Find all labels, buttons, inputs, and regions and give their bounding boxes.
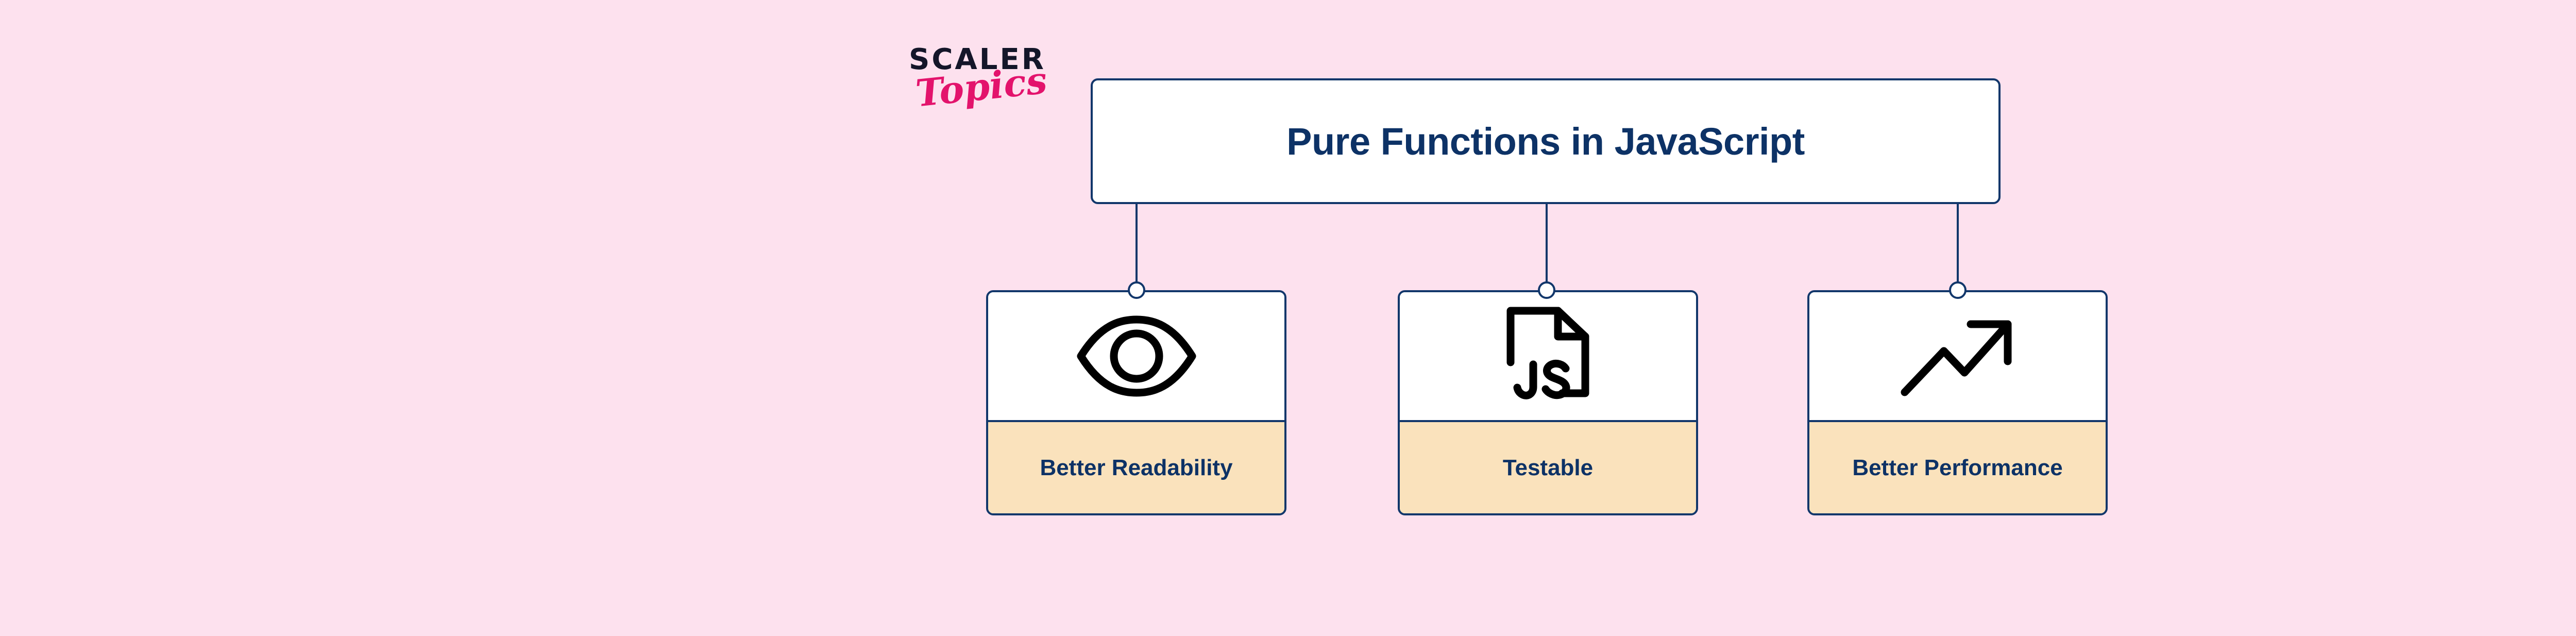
connector-line-1 xyxy=(1136,204,1138,290)
trending-up-icon xyxy=(1899,314,2017,399)
feature-card-better-readability[interactable]: Better Readability xyxy=(986,290,1286,515)
connector-line-3 xyxy=(1957,204,1959,290)
infographic-canvas: SCALER Topics Pure Functions in JavaScri… xyxy=(0,0,2576,636)
connector-dot-2 xyxy=(1538,281,1555,299)
connector-line-2 xyxy=(1546,204,1548,290)
card-label: Better Readability xyxy=(1040,455,1232,480)
page-title: Pure Functions in JavaScript xyxy=(1286,120,1805,163)
card-label-area: Better Readability xyxy=(988,422,1284,513)
card-icon-area xyxy=(1809,292,2106,422)
card-label: Testable xyxy=(1503,455,1593,480)
scaler-topics-logo: SCALER Topics xyxy=(909,45,1079,143)
card-icon-area xyxy=(988,292,1284,422)
card-label-area: Better Performance xyxy=(1809,422,2106,513)
card-icon-area xyxy=(1400,292,1696,422)
feature-card-testable[interactable]: Testable xyxy=(1398,290,1698,515)
logo-script: Topics xyxy=(914,61,1049,112)
connector-dot-1 xyxy=(1128,281,1145,299)
title-box: Pure Functions in JavaScript xyxy=(1091,78,2001,204)
connector-dot-3 xyxy=(1949,281,1967,299)
card-label-area: Testable xyxy=(1400,422,1696,513)
eye-icon xyxy=(1076,313,1197,399)
js-file-icon xyxy=(1500,305,1596,408)
feature-card-better-performance[interactable]: Better Performance xyxy=(1807,290,2108,515)
card-label: Better Performance xyxy=(1852,455,2062,480)
